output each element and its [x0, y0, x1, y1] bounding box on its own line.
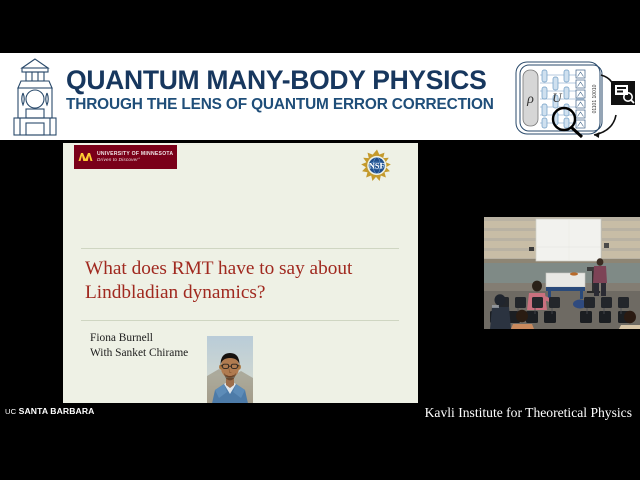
circuit-rho-label: ρ [526, 92, 534, 107]
conference-header-banner: QUANTUM MANY-BODY PHYSICS THROUGH THE LE… [0, 53, 640, 140]
ucsb-santabarbara-text: SANTA BARBARA [19, 406, 95, 416]
slide-rule-bottom [81, 320, 399, 321]
umn-logo-text: UNIVERSITY OF MINNESOTA Driven to Discov… [97, 151, 173, 162]
header-title-block: QUANTUM MANY-BODY PHYSICS THROUGH THE LE… [66, 67, 512, 113]
nsf-logo-icon: NSF [360, 149, 394, 183]
slide-author-block: Fiona Burnell With Sanket Chirame [90, 331, 188, 361]
storke-tower-icon [8, 57, 62, 137]
quantum-circuit-icon: ρ [512, 55, 638, 140]
umn-logo-line2: Driven to Discover° [97, 157, 173, 162]
kitp-wordmark: Kavli Institute for Theoretical Physics [425, 405, 632, 421]
video-frame: QUANTUM MANY-BODY PHYSICS THROUGH THE LE… [0, 0, 640, 480]
slide-collaborator-name: With Sanket Chirame [90, 346, 188, 361]
circuit-u-label: U [552, 90, 563, 105]
footer-bar: UC SANTA BARBARA Kavli Institute for The… [0, 403, 640, 433]
collaborator-headshot [207, 336, 253, 408]
presentation-slide: UNIVERSITY OF MINNESOTA Driven to Discov… [63, 143, 418, 408]
lecture-hall-camera-feed[interactable] [472, 203, 640, 336]
umn-logo-banner: UNIVERSITY OF MINNESOTA Driven to Discov… [74, 145, 177, 169]
lecture-hall-scene [484, 217, 640, 329]
slide-rule-top [81, 248, 399, 249]
slide-title-line2: Lindbladian dynamics? [85, 281, 400, 305]
nsf-logo-label: NSF [369, 162, 385, 171]
slide-title: What does RMT have to say about Lindblad… [85, 257, 400, 306]
slide-title-line1: What does RMT have to say about [85, 257, 400, 281]
ucsb-wordmark: UC SANTA BARBARA [5, 406, 94, 416]
ucsb-uc-text: UC [5, 407, 16, 416]
header-subtitle: THROUGH THE LENS OF QUANTUM ERROR CORREC… [66, 97, 512, 114]
header-title: QUANTUM MANY-BODY PHYSICS [66, 67, 512, 95]
umn-logo-icon [77, 149, 94, 166]
circuit-bitstring-label: 01101 10010 [592, 84, 598, 113]
slide-author-name: Fiona Burnell [90, 331, 188, 346]
